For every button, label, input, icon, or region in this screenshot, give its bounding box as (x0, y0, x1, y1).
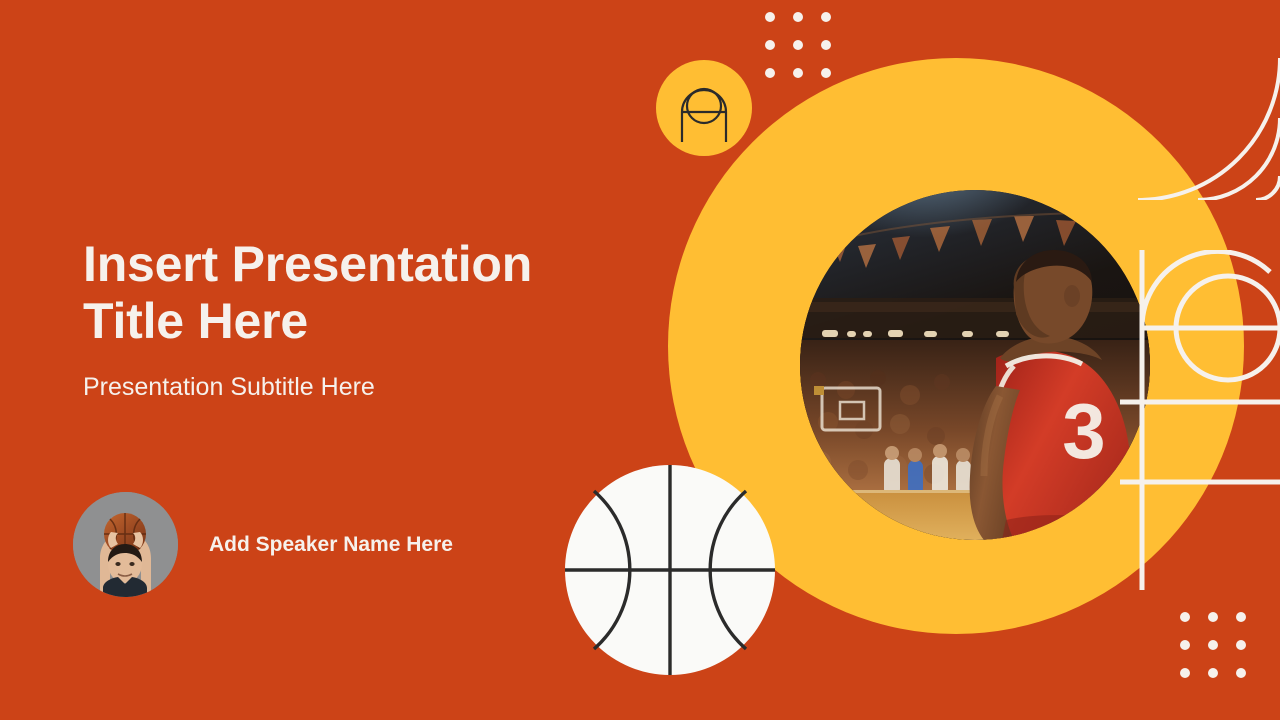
dot (1236, 668, 1246, 678)
dot (765, 68, 775, 78)
presentation-slide: 3 (0, 0, 1280, 720)
speaker-name[interactable]: Add Speaker Name Here (209, 527, 459, 563)
dot (1180, 640, 1190, 650)
dot (765, 12, 775, 22)
dot (1208, 640, 1218, 650)
svg-text:3: 3 (1062, 387, 1105, 475)
avatar (73, 492, 178, 597)
dot (821, 12, 831, 22)
basketball-key-icon (656, 60, 752, 156)
dot (1208, 668, 1218, 678)
speaker-row: Add Speaker Name Here (73, 492, 459, 597)
dot (1180, 668, 1190, 678)
dot (793, 40, 803, 50)
dot (1208, 612, 1218, 622)
dot (1236, 640, 1246, 650)
dot (765, 40, 775, 50)
hero-photo-basketball-player: 3 (800, 190, 1150, 540)
basketball-court-lines (1120, 250, 1280, 590)
dot (1180, 612, 1190, 622)
dot-grid-top (765, 12, 831, 78)
dot (1236, 612, 1246, 622)
page-title[interactable]: Insert Presentation Title Here (83, 236, 643, 350)
dot (821, 68, 831, 78)
concentric-arcs (1080, 0, 1280, 200)
page-subtitle[interactable]: Presentation Subtitle Here (83, 372, 643, 402)
dot-grid-bottom (1180, 612, 1246, 678)
dot (821, 40, 831, 50)
dot (793, 12, 803, 22)
dot (793, 68, 803, 78)
basketball-ball-icon (564, 464, 776, 676)
title-block: Insert Presentation Title Here Presentat… (83, 236, 643, 402)
yellow-ring-circle (668, 58, 1244, 634)
